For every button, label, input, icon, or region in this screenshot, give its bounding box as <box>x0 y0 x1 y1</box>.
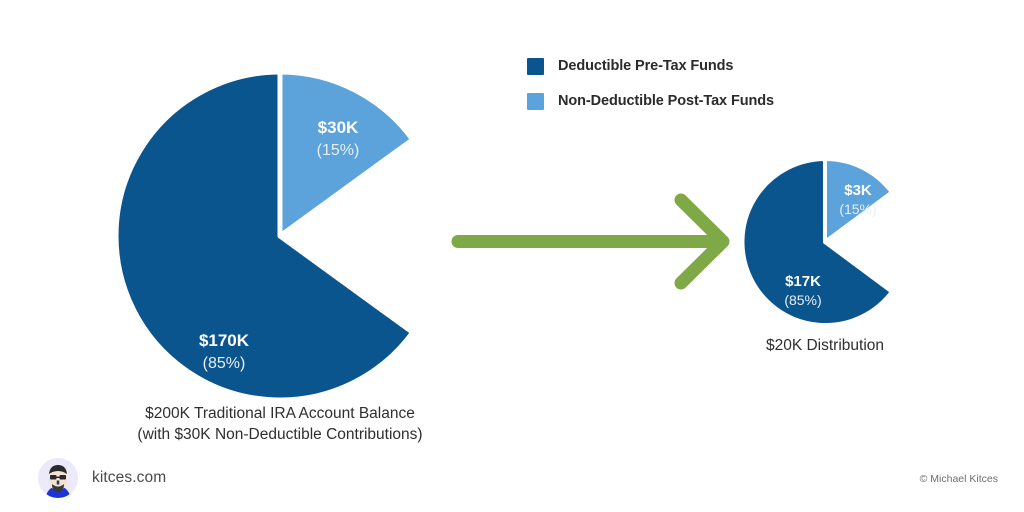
footer-brand[interactable]: kitces.com <box>38 458 166 498</box>
pie-label-pct-post-tax: (15%) <box>317 142 360 159</box>
legend: Deductible Pre-Tax Funds Non-Deductible … <box>527 55 774 125</box>
caption-line-2: (with $30K Non-Deductible Contributions) <box>110 424 450 445</box>
copyright-notice: © Michael Kitces <box>920 473 998 485</box>
caption-line-1: $200K Traditional IRA Account Balance <box>110 403 450 424</box>
caption-distribution: $20K Distribution <box>725 335 925 356</box>
pie-label-value-post-tax: $3K <box>844 182 872 199</box>
legend-swatch-pre-tax-icon <box>527 58 544 75</box>
pie-label-pct-pre-tax: (85%) <box>784 292 821 308</box>
flow-arrow-right-icon <box>450 185 750 300</box>
pie-chart-distribution: $3K (15%) $17K (85%) <box>741 158 909 326</box>
legend-swatch-post-tax-icon <box>527 93 544 110</box>
caption-line-1: $20K Distribution <box>725 335 925 356</box>
pie-chart-traditional-ira: $30K (15%) $170K (85%) <box>114 70 446 402</box>
caption-traditional-ira: $200K Traditional IRA Account Balance (w… <box>110 403 450 445</box>
brand-name: kitces.com <box>92 469 166 487</box>
chart-canvas: Deductible Pre-Tax Funds Non-Deductible … <box>0 0 1024 512</box>
legend-label-post-tax: Non-Deductible Post-Tax Funds <box>558 93 774 109</box>
kitces-avatar-icon <box>38 458 78 498</box>
legend-item-pre-tax: Deductible Pre-Tax Funds <box>527 55 774 77</box>
pie-label-value-pre-tax: $17K <box>785 273 821 290</box>
pie-label-pct-pre-tax: (85%) <box>203 355 246 372</box>
legend-label-pre-tax: Deductible Pre-Tax Funds <box>558 58 733 74</box>
legend-item-post-tax: Non-Deductible Post-Tax Funds <box>527 90 774 112</box>
pie-label-value-post-tax: $30K <box>318 118 359 137</box>
pie-label-pct-post-tax: (15%) <box>839 201 876 217</box>
pie-label-value-pre-tax: $170K <box>199 331 250 350</box>
